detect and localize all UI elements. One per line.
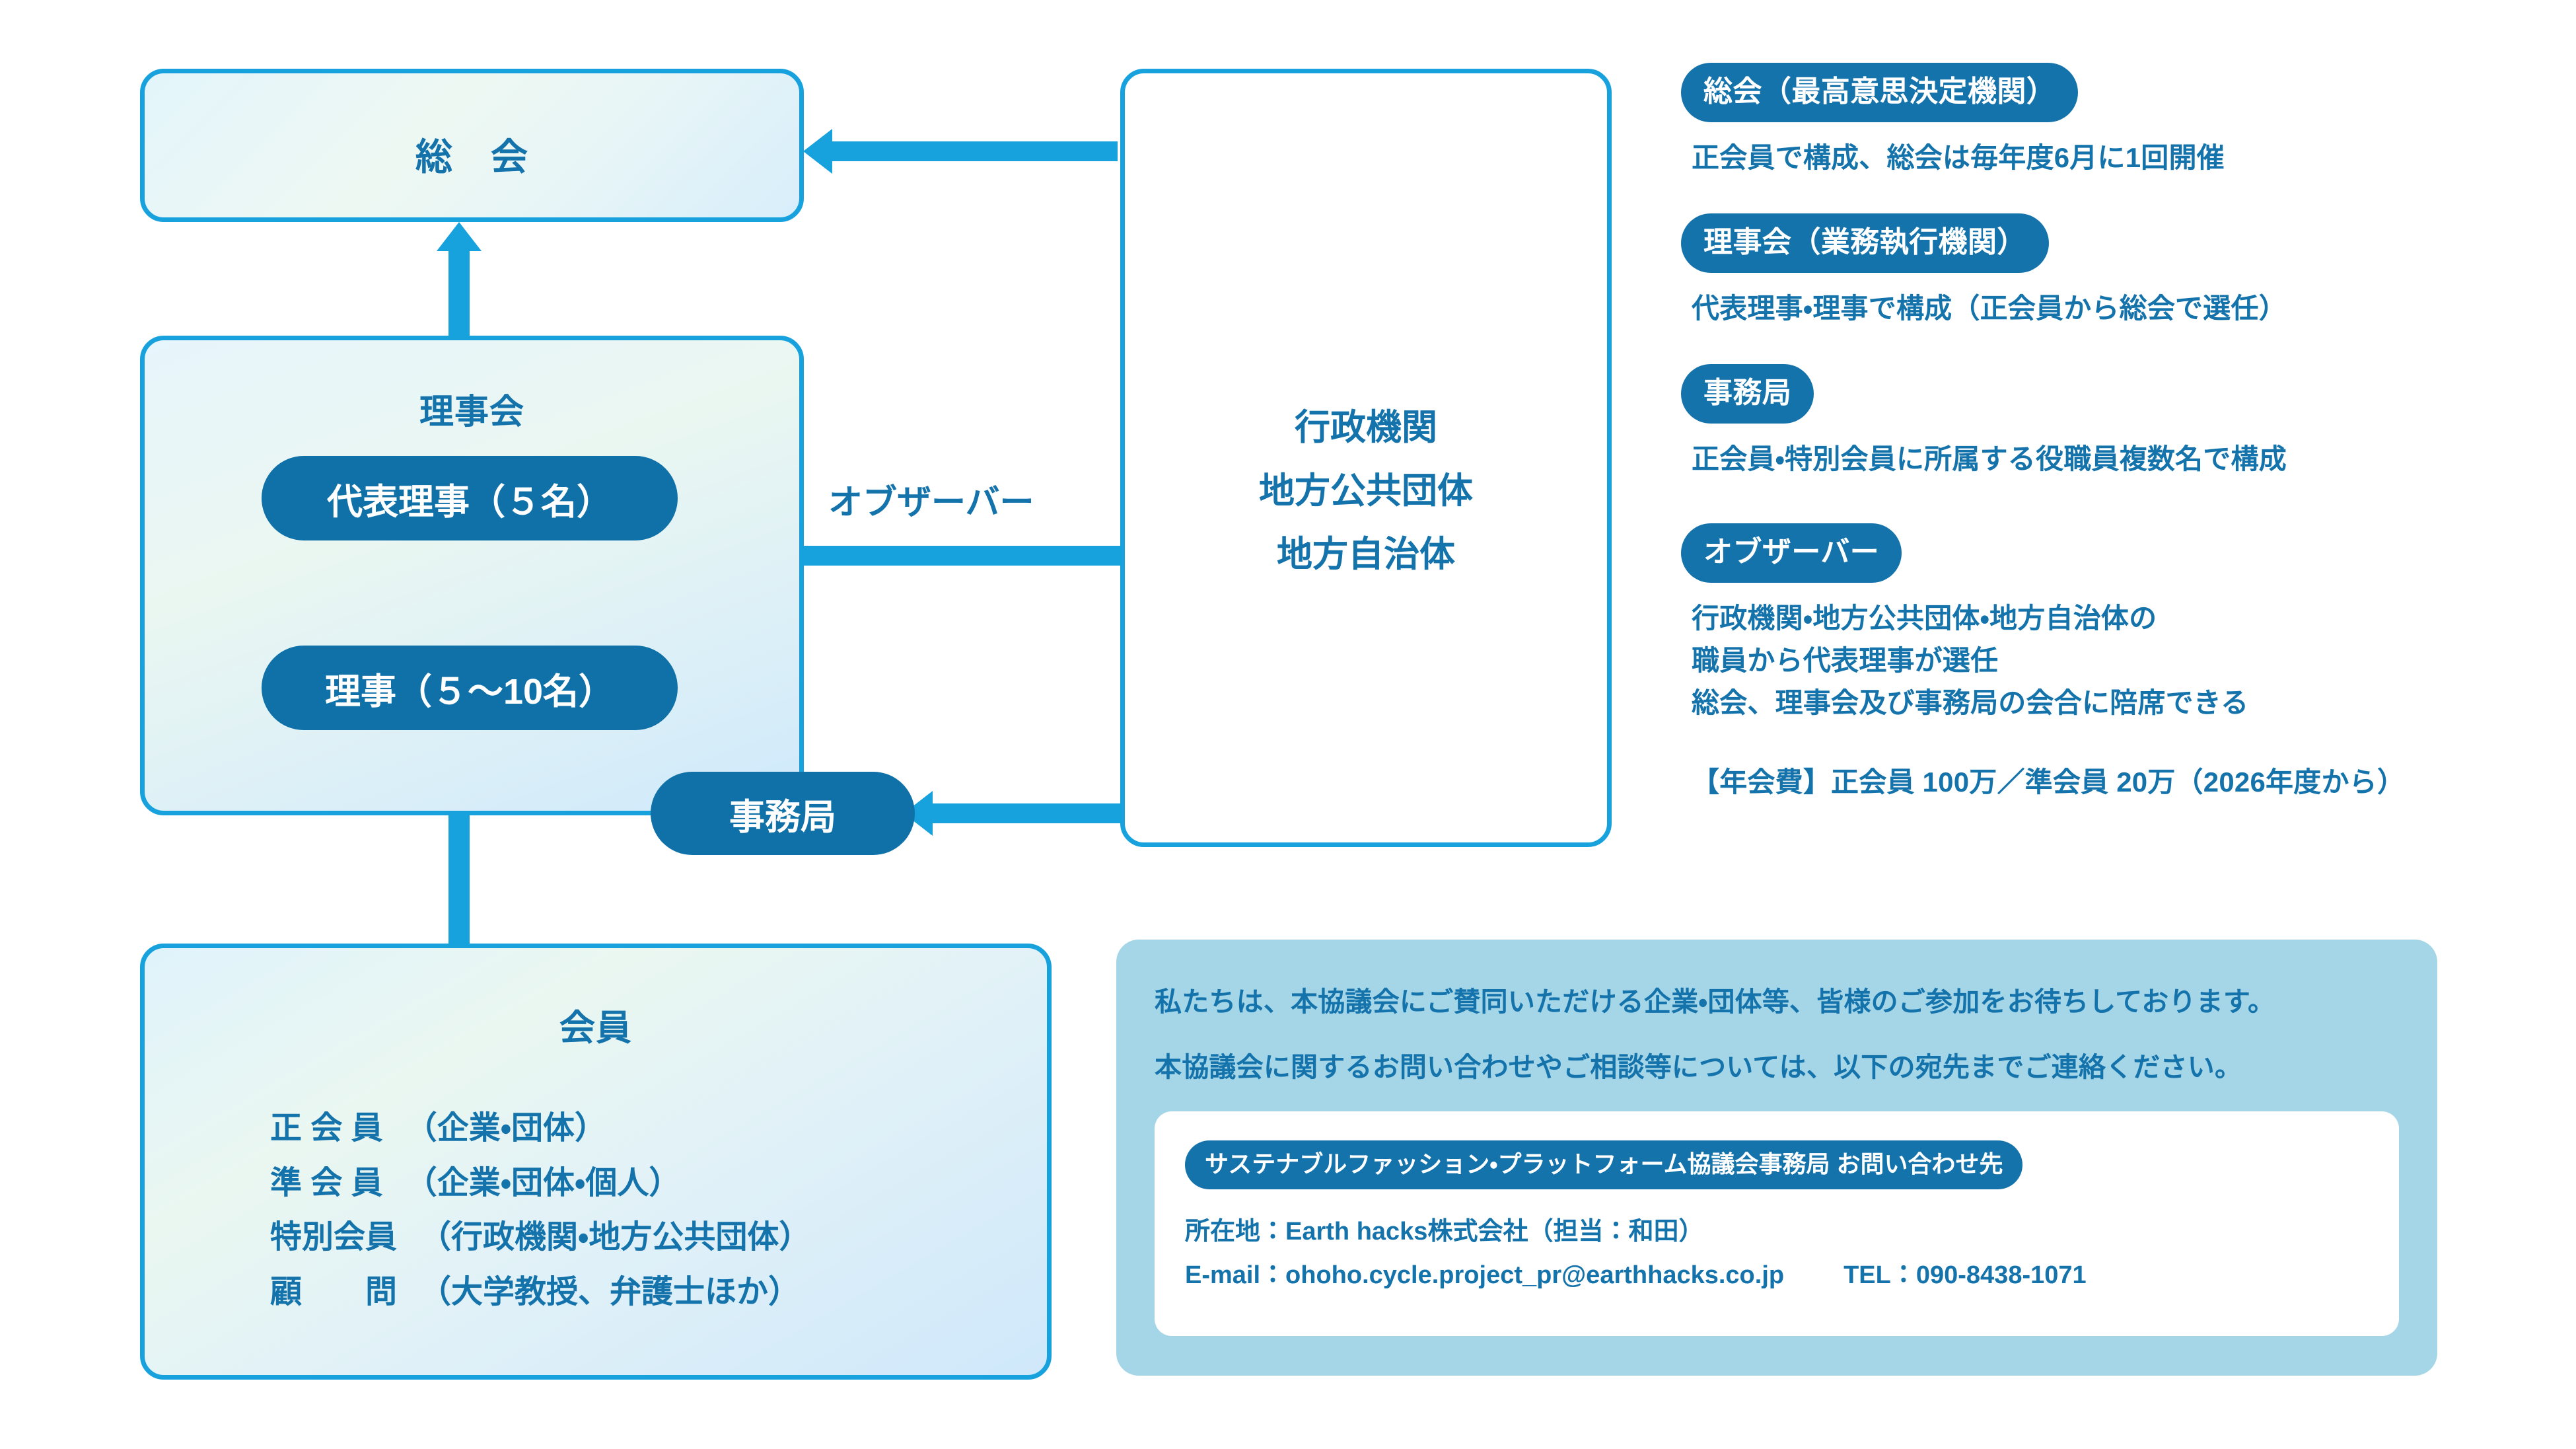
contact-panel: 私たちは、本協議会にご賛同いただける企業・団体等、皆様のご参加をお待ちしておりま… [1116,940,2437,1376]
list-item: 特別会員（行政機関・地方公共団体） [270,1210,810,1265]
list-item: 準 会 員（企業・団体・個人） [270,1156,810,1211]
agency-line: 行政機関 [1125,396,1607,459]
legend-line: 代表理事・理事で構成（正会員から総会で選任） [1692,287,2546,330]
legend-column: 総会（最高意思決定機関） 正会員で構成、総会は毎年度6月に1回開催 理事会（業務… [1681,63,2546,800]
observer-label: オブザーバー [828,474,1034,524]
pill-secretariat-label: 事務局 [729,788,836,840]
members-box[interactable]: 会員 正 会 員（企業・団体） 準 会 員（企業・団体・個人） 特別会員（行政機… [140,944,1052,1380]
contact-tel-value[interactable]: TEL：090-8438-1071 [1843,1261,2087,1289]
member-detail: （大学教授、弁護士ほか） [419,1275,800,1310]
member-detail: （企業・団体） [406,1111,606,1146]
legend-body-secretariat: 正会員・特別会員に所属する役職員複数名で構成 [1692,438,2546,480]
members-box-title: 会員 [145,998,1047,1051]
organization-chart-canvas: 総 会 理事会 代表理事（５名） 理事（５〜10名） 事務局 会員 正 会 員（… [0,0,2576,1449]
legend-line: 正会員で構成、総会は毎年度6月に1回開催 [1692,137,2546,179]
contact-lead-line-2: 本協議会に関するお問い合わせやご相談等については、以下の宛先までご連絡ください。 [1155,1043,2399,1092]
legend-body-observer: 行政機関・地方公共団体・地方自治体の 職員から代表理事が選任 総会、理事会及び事… [1692,597,2546,724]
legend-fee-note: 【年会費】正会員 100万／準会員 20万（2026年度から） [1692,760,2546,800]
agency-box-lines: 行政機関 地方公共団体 地方自治体 [1125,396,1607,586]
arrow-agency-to-assembly-shaft [832,141,1118,161]
legend-body-assembly: 正会員で構成、総会は毎年度6月に1回開催 [1692,137,2546,179]
agency-line: 地方自治体 [1125,523,1607,586]
board-box[interactable]: 理事会 [140,336,804,815]
pill-secretariat[interactable]: 事務局 [651,772,915,855]
legend-pill-board: 理事会（業務執行機関） [1681,213,2049,273]
assembly-box-title: 総 会 [145,128,799,181]
member-detail: （行政機関・地方公共団体） [419,1220,810,1255]
legend-item-board: 理事会（業務執行機関） 代表理事・理事で構成（正会員から総会で選任） [1681,213,2546,330]
board-box-title: 理事会 [145,384,799,433]
member-role: 正 会 員 [270,1111,383,1146]
members-list: 正 会 員（企業・団体） 準 会 員（企業・団体・個人） 特別会員（行政機関・地… [270,1101,810,1319]
legend-spacer [1681,486,2546,523]
contact-card-pill-label: サステナブルファッション・プラットフォーム協議会事務局 お問い合わせ先 [1185,1140,2022,1189]
member-role: 特別会員 [270,1220,397,1255]
arrow-agency-to-assembly-head [803,129,832,174]
legend-pill-assembly: 総会（最高意思決定機関） [1681,63,2078,122]
member-detail: （企業・団体・個人） [406,1166,681,1201]
list-item: 正 会 員（企業・団体） [270,1101,810,1156]
pill-daihyo-riji[interactable]: 代表理事（５名） [262,456,678,540]
member-role: 準 会 員 [270,1166,383,1201]
contact-lead-line-1: 私たちは、本協議会にご賛同いただける企業・団体等、皆様のご参加をお待ちしておりま… [1155,978,2399,1026]
legend-line: 職員から代表理事が選任 [1692,640,2546,682]
contact-address-line: 所在地：Earth hacks株式会社（担当：和田） [1185,1212,2369,1253]
legend-spacer [1681,336,2546,364]
legend-item-assembly: 総会（最高意思決定機関） 正会員で構成、総会は毎年度6月に1回開催 [1681,63,2546,179]
contact-card: サステナブルファッション・プラットフォーム協議会事務局 お問い合わせ先 所在地：… [1155,1111,2399,1336]
contact-email-tel-row: E-mail：ohoho.cycle.project_pr@earthhacks… [1185,1255,2369,1296]
pill-riji[interactable]: 理事（５〜10名） [262,646,678,730]
legend-body-board: 代表理事・理事で構成（正会員から総会で選任） [1692,287,2546,330]
legend-item-observer: オブザーバー 行政機関・地方公共団体・地方自治体の 職員から代表理事が選任 総会… [1681,523,2546,724]
legend-line: 行政機関・地方公共団体・地方自治体の [1692,597,2546,640]
contact-email-value[interactable]: E-mail：ohoho.cycle.project_pr@earthhacks… [1185,1261,1784,1289]
pill-daihyo-riji-label: 代表理事（５名） [327,472,612,525]
list-item: 顧 問（大学教授、弁護士ほか） [270,1265,810,1320]
legend-line: 総会、理事会及び事務局の会合に陪席できる [1692,682,2546,724]
pill-riji-label: 理事（５〜10名） [325,662,614,714]
legend-pill-secretariat: 事務局 [1681,364,1814,424]
legend-pill-observer: オブザーバー [1681,523,1902,583]
legend-item-secretariat: 事務局 正会員・特別会員に所属する役職員複数名で構成 [1681,364,2546,480]
legend-line: 正会員・特別会員に所属する役職員複数名で構成 [1692,438,2546,480]
arrow-board-to-assembly-head [437,222,482,251]
agency-box[interactable]: 行政機関 地方公共団体 地方自治体 [1120,69,1612,847]
arrow-agency-to-board-shaft [803,546,1120,566]
assembly-box[interactable]: 総 会 [140,69,804,222]
arrow-agency-to-secretariat-shaft [933,803,1120,823]
arrow-board-to-assembly-shaft [448,250,470,336]
agency-line: 地方公共団体 [1125,459,1607,523]
legend-spacer [1681,186,2546,213]
member-role: 顧 問 [270,1275,397,1310]
